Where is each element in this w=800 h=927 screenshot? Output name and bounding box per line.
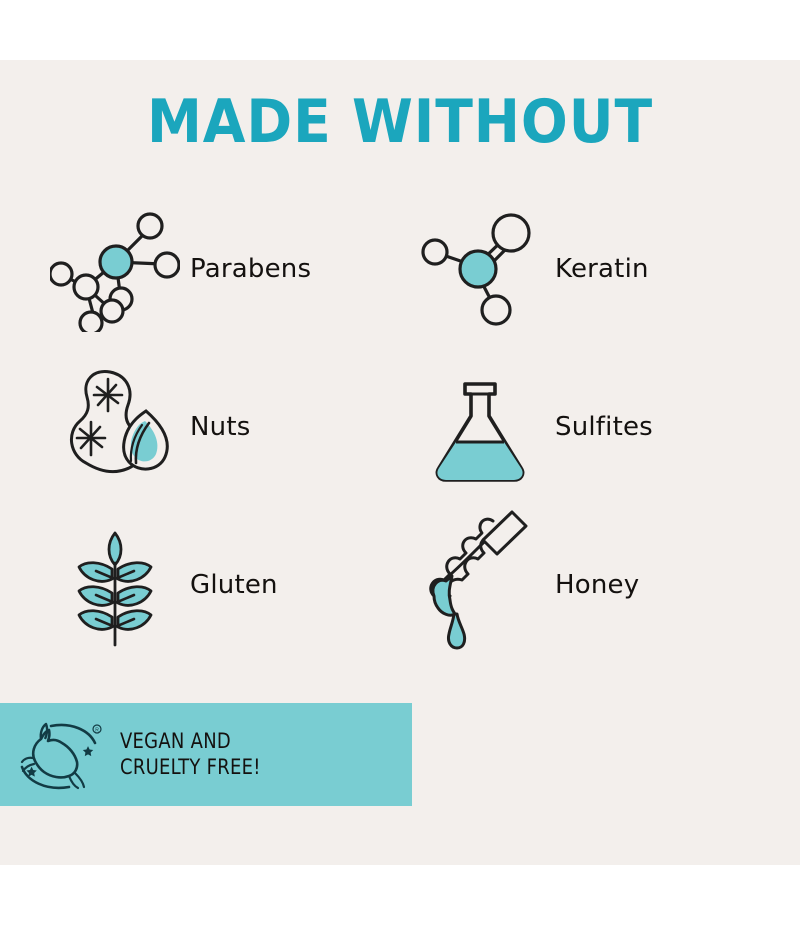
list-item-label: Parabens: [190, 254, 311, 284]
list-item: Parabens: [40, 190, 405, 348]
list-item-label: Keratin: [555, 254, 649, 284]
grid-row: Gluten Honey: [40, 506, 770, 664]
wheat-stalk-icon: [40, 515, 190, 655]
list-item-label: Honey: [555, 570, 639, 600]
flask-icon: [405, 357, 555, 497]
molecule-keratin-icon: [405, 199, 555, 339]
list-item: Honey: [405, 506, 770, 664]
molecule-parabens-icon: [40, 199, 190, 339]
leaping-bunny-logo: R: [0, 703, 120, 806]
registered-mark-glyph: R: [95, 727, 99, 733]
grid-row: Nuts Sulfites: [40, 348, 770, 506]
grid-row: Parabens: [40, 190, 770, 348]
list-item: Keratin: [405, 190, 770, 348]
list-item-label: Nuts: [190, 412, 250, 442]
list-item-label: Sulfites: [555, 412, 653, 442]
vegan-cruelty-free-banner: R VEGAN AND CRUELTY FREE!: [0, 703, 412, 806]
list-item-label: Gluten: [190, 570, 278, 600]
banner-line-1: VEGAN AND: [120, 729, 261, 755]
ingredient-grid: Parabens: [40, 190, 770, 664]
honey-dipper-icon: [405, 515, 555, 655]
list-item: Gluten: [40, 506, 405, 664]
banner-line-2: CRUELTY FREE!: [120, 755, 261, 781]
peanut-almond-icon: [40, 357, 190, 497]
list-item: Nuts: [40, 348, 405, 506]
page-title: MADE WITHOUT: [32, 92, 768, 152]
banner-text: VEGAN AND CRUELTY FREE!: [120, 729, 261, 780]
list-item: Sulfites: [405, 348, 770, 506]
infographic-canvas: MADE WITHOUT: [0, 0, 800, 927]
